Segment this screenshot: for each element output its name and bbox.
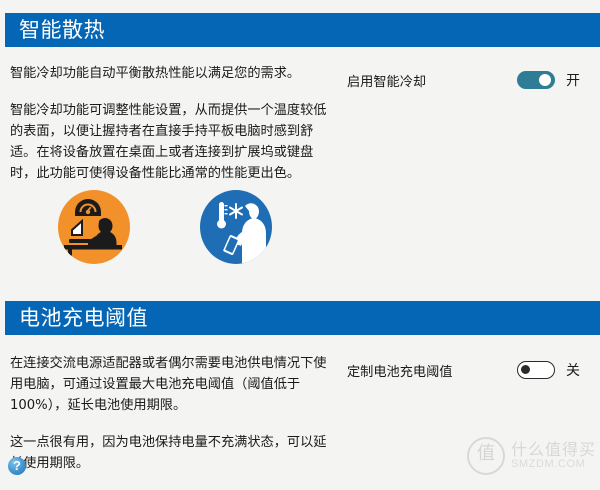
battery-threshold-toggle[interactable] bbox=[517, 361, 555, 379]
intelligent-cooling-description: 智能冷却功能自动平衡散热性能以满足您的需求。 智能冷却功能可调整性能设置，从而提… bbox=[10, 63, 330, 200]
battery-threshold-description: 在连接交流电源适配器或者偶尔需要电池供电情况下使用电脑，可通过设置最大电池充电阈… bbox=[10, 353, 330, 490]
question-mark-icon[interactable]: ? bbox=[8, 457, 26, 475]
control-label: 启用智能冷却 bbox=[347, 71, 517, 90]
toggle-state-label: 关 bbox=[566, 360, 580, 380]
paragraph: 这一点很有用，因为电池保持电量不充满状态，可以延长使用期限。 bbox=[10, 432, 330, 474]
toggle-knob bbox=[521, 365, 530, 374]
section-title: 电池充电阈值 bbox=[5, 308, 148, 329]
control-label: 定制电池充电阈值 bbox=[347, 361, 517, 380]
section-header-battery-charge-threshold: 电池充电阈值 bbox=[5, 301, 600, 335]
watermark-site-name-cn: 什么值得买 bbox=[511, 441, 596, 458]
custom-battery-threshold-control[interactable]: 定制电池充电阈值 关 bbox=[347, 360, 580, 380]
paragraph: 智能冷却功能可调整性能设置，从而提供一个温度较低的表面，以便让握持者在直接手持平… bbox=[10, 100, 330, 184]
enable-intelligent-cooling-control[interactable]: 启用智能冷却 开 bbox=[347, 70, 580, 90]
watermark-text: 什么值得买 SMZDM.COM bbox=[511, 441, 596, 471]
section-title: 智能散热 bbox=[5, 20, 105, 41]
person-tablet-thermometer-snowflake-icon bbox=[200, 190, 272, 264]
toggle-knob bbox=[539, 74, 551, 86]
intelligent-cooling-toggle[interactable] bbox=[517, 71, 555, 89]
section-header-intelligent-cooling: 智能散热 bbox=[5, 13, 600, 47]
settings-page: 智能散热 智能冷却功能自动平衡散热性能以满足您的需求。 智能冷却功能可调整性能设… bbox=[0, 0, 600, 479]
toggle-state-label: 开 bbox=[566, 70, 580, 90]
paragraph: 智能冷却功能自动平衡散热性能以满足您的需求。 bbox=[10, 63, 330, 84]
watermark-site-url: SMZDM.COM bbox=[511, 458, 596, 471]
watermark-logo-icon: 值 bbox=[467, 437, 505, 475]
watermark: 值 什么值得买 SMZDM.COM bbox=[467, 437, 596, 475]
person-laptop-gauge-icon bbox=[58, 190, 130, 264]
paragraph: 在连接交流电源适配器或者偶尔需要电池供电情况下使用电脑，可通过设置最大电池充电阈… bbox=[10, 353, 330, 416]
